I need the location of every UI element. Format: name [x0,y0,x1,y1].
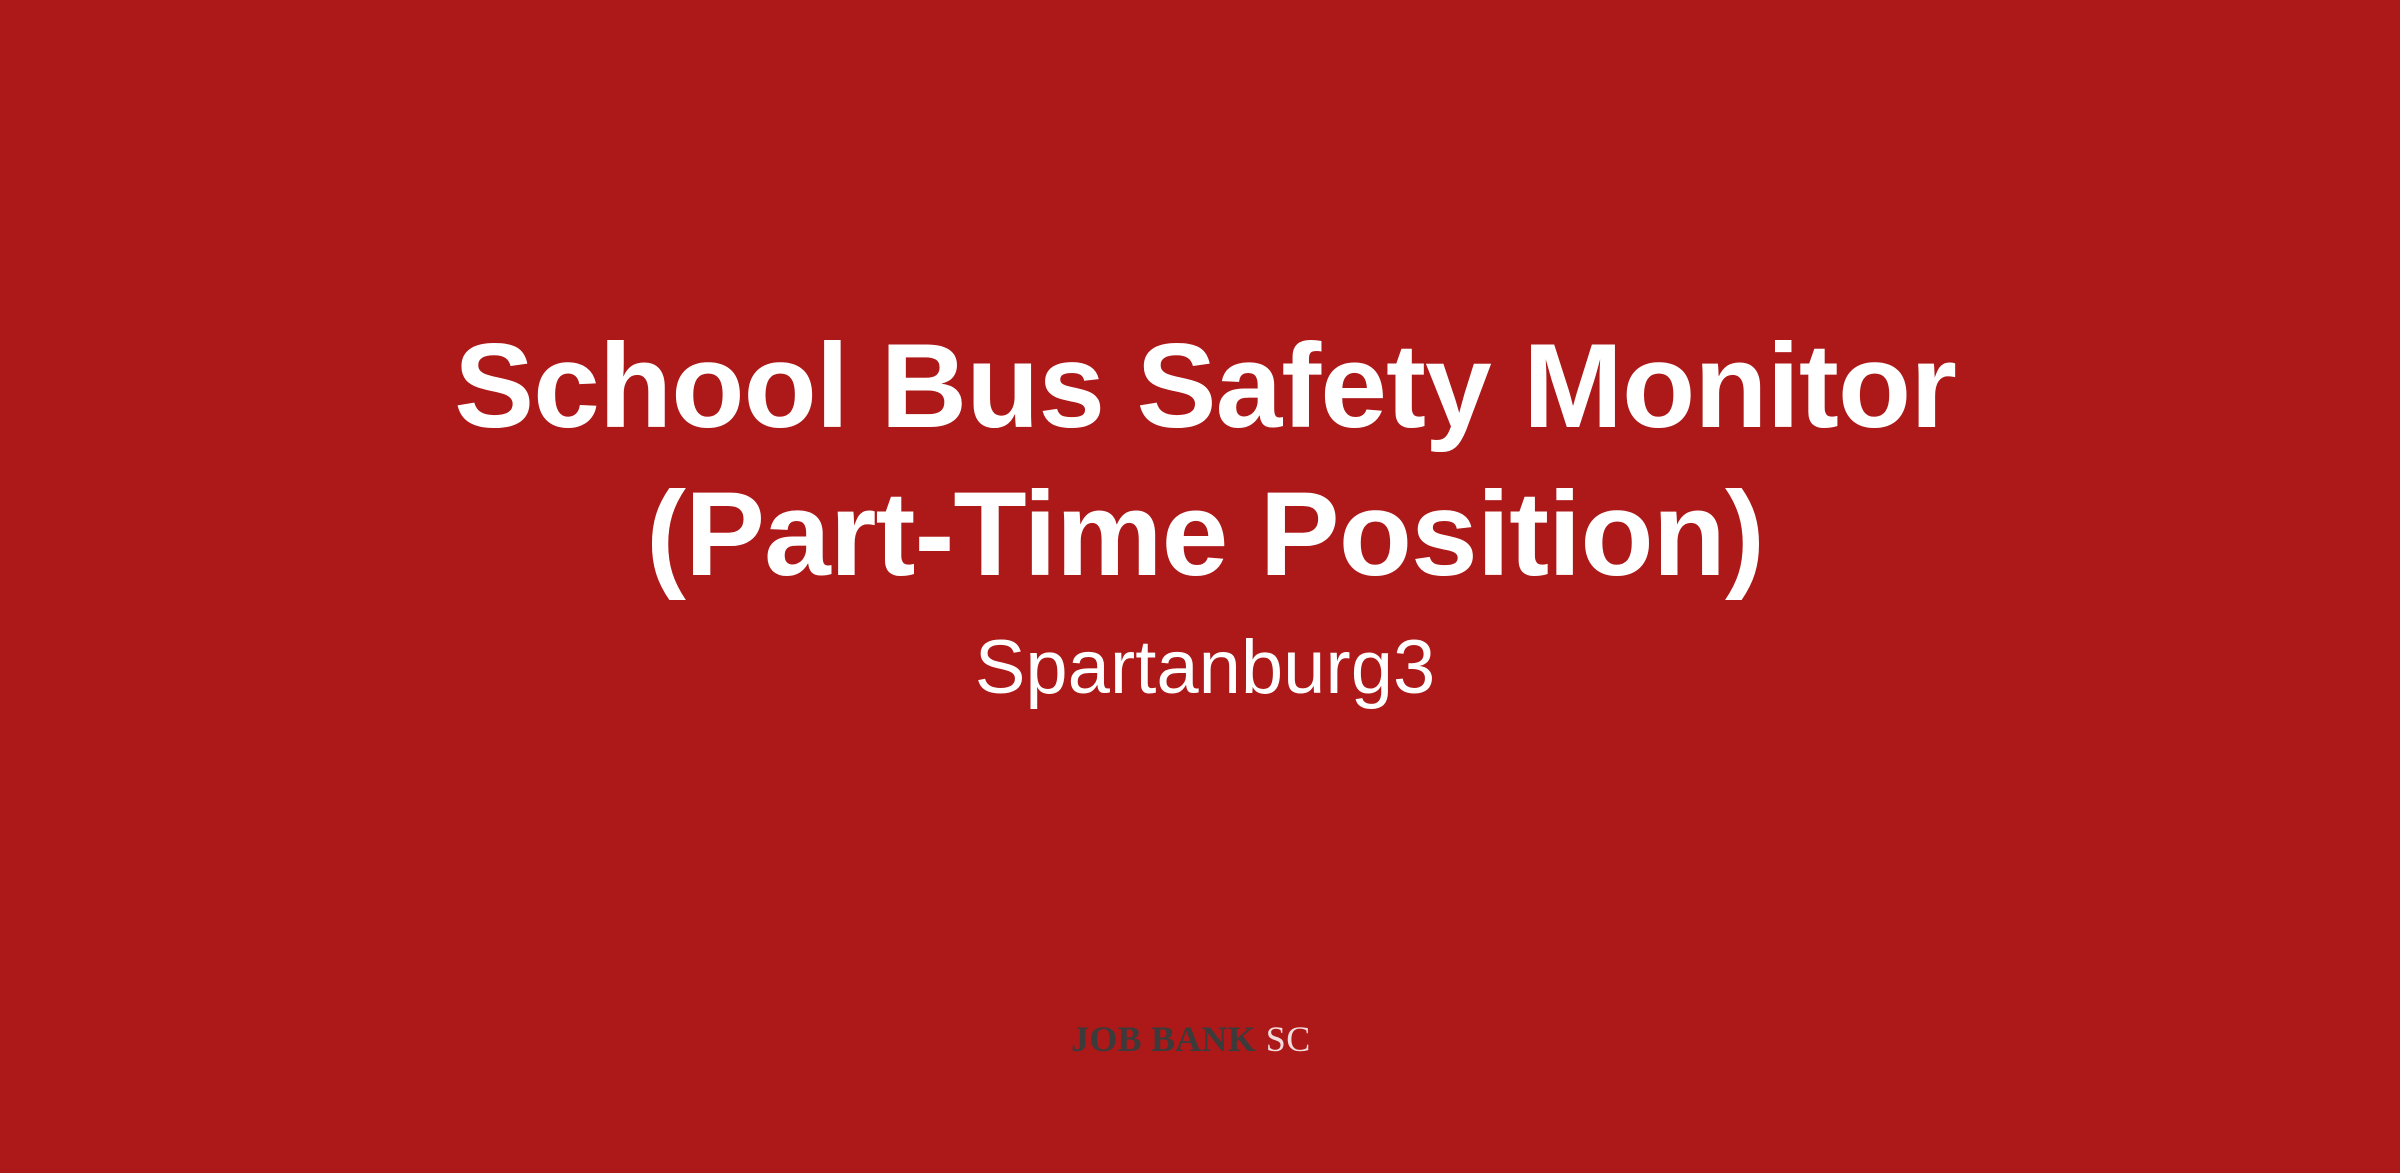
hero-text-block: School Bus Safety Monitor (Part-Time Pos… [0,0,2400,714]
brand-logo: JOB BANK SC [1071,1019,1311,1059]
footer: JOB BANK SC [0,1003,2400,1173]
brand-primary-text: JOB BANK [1071,1019,1256,1059]
page-subtitle: Spartanburg3 [10,608,2400,714]
job-posting-slide: School Bus Safety Monitor (Part-Time Pos… [0,0,2400,1173]
brand-secondary-text: SC [1266,1019,1311,1059]
page-title: School Bus Safety Monitor (Part-Time Pos… [10,0,2400,608]
